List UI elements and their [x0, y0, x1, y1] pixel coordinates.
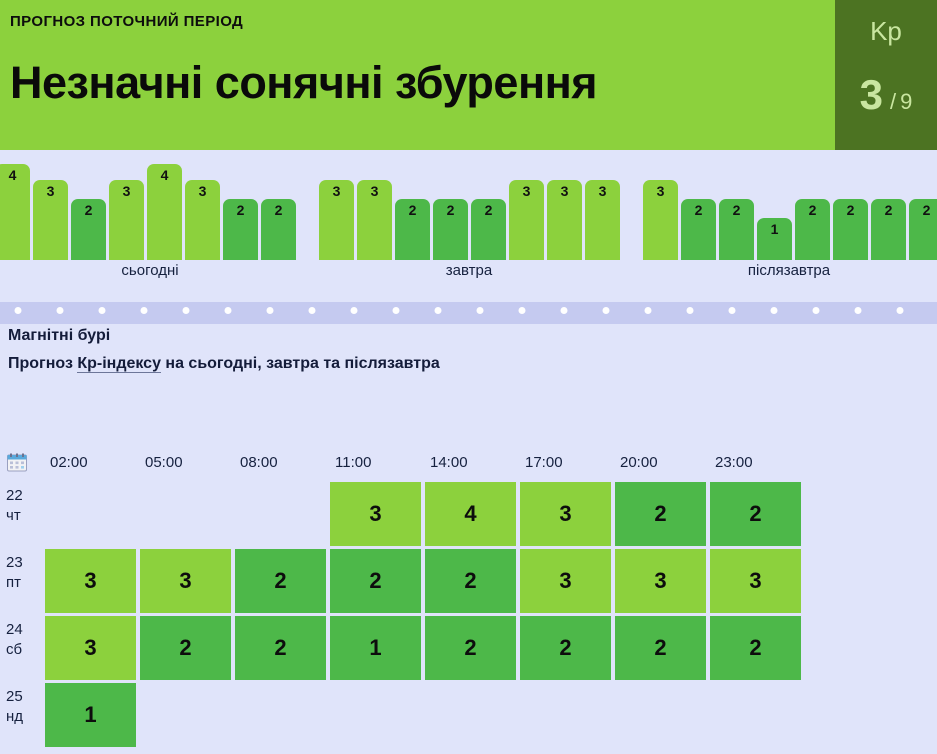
kp-bar-value: 1	[757, 221, 792, 237]
day-group-label-0: сьогодні	[121, 262, 178, 279]
table-row: 24сб32212222	[0, 616, 937, 683]
row-date-label: 23пт	[6, 553, 23, 594]
kp-bar: 3	[185, 180, 220, 260]
kp-bar-value: 4	[147, 167, 182, 183]
row-weekday: сб	[6, 640, 23, 660]
timeline-dot	[15, 307, 22, 314]
kp-bar: 3	[547, 180, 582, 260]
time-header-1700: 17:00	[525, 454, 563, 471]
kp-bar-value: 2	[395, 202, 430, 218]
kp-badge-value: 3	[860, 74, 883, 116]
kp-bar-strip: 432343223322233332212222 сьогоднізавтрап…	[0, 150, 937, 296]
table-row: 25нд1	[0, 683, 937, 750]
kp-cell: 2	[425, 616, 518, 682]
kp-cell: 2	[520, 616, 613, 682]
kp-bar-value: 2	[719, 202, 754, 218]
table-header-row: 02:0005:0008:0011:0014:0017:0020:0023:00	[0, 448, 937, 482]
table-body: 22чт3432223пт3322233324сб3221222225нд1	[0, 482, 937, 750]
timeline-dot	[57, 307, 64, 314]
kp-bar: 3	[33, 180, 68, 260]
timeline-dot	[309, 307, 316, 314]
kp-bar-value: 3	[547, 183, 582, 199]
table-row: 23пт33222333	[0, 549, 937, 616]
kp-cell-empty	[235, 482, 328, 548]
timeline-dot	[897, 307, 904, 314]
kp-bar-value: 2	[833, 202, 868, 218]
section-subtitle: Прогноз Кр-індексу на сьогодні, завтра т…	[8, 352, 937, 376]
kp-badge-max: 9	[900, 89, 912, 115]
row-day-number: 25	[6, 687, 23, 707]
timeline-dot	[477, 307, 484, 314]
kp-bar: 2	[871, 199, 906, 260]
kp-bar-value: 2	[909, 202, 937, 218]
kp-bar: 2	[833, 199, 868, 260]
kp-cell-empty	[140, 683, 233, 749]
row-weekday: нд	[6, 707, 23, 727]
kp-bar: 3	[643, 180, 678, 260]
table-row: 22чт34322	[0, 482, 937, 549]
timeline-dot	[813, 307, 820, 314]
kp-bar: 2	[909, 199, 937, 260]
time-header-1400: 14:00	[430, 454, 468, 471]
kp-badge-value-row: 3 / 9	[860, 74, 913, 116]
kp-cell: 1	[45, 683, 138, 749]
kp-cell: 3	[710, 549, 803, 615]
time-header-0200: 02:00	[50, 454, 88, 471]
kp-cell: 2	[615, 616, 708, 682]
header-text-block: ПРОГНОЗ ПОТОЧНИЙ ПЕРІОД Незначні сонячні…	[0, 0, 835, 150]
kp-bar-value: 3	[185, 183, 220, 199]
timeline-dot	[855, 307, 862, 314]
kp-bar-value: 4	[0, 167, 30, 183]
timeline-dot	[141, 307, 148, 314]
row-weekday: пт	[6, 573, 23, 593]
kp-cell: 3	[45, 616, 138, 682]
kp-cell: 2	[330, 549, 423, 615]
kp-bar: 3	[109, 180, 144, 260]
kp-bar-value: 2	[261, 202, 296, 218]
kp-bar-value: 3	[585, 183, 620, 199]
kp-badge-label: Kp	[870, 18, 902, 44]
kp-bar: 3	[509, 180, 544, 260]
timeline-dot	[435, 307, 442, 314]
time-header-2000: 20:00	[620, 454, 658, 471]
timeline-dot	[729, 307, 736, 314]
day-group-labels: сьогоднізавтрапіслязавтра	[0, 262, 937, 288]
kp-bar-value: 2	[871, 202, 906, 218]
kp-cell-empty	[140, 482, 233, 548]
timeline-dot	[393, 307, 400, 314]
kp-bar-value: 3	[509, 183, 544, 199]
kp-cell: 3	[45, 549, 138, 615]
kp-bar: 3	[319, 180, 354, 260]
kp-cell-empty	[45, 482, 138, 548]
timeline-dot	[183, 307, 190, 314]
kp-bar: 2	[681, 199, 716, 260]
row-date-label: 25нд	[6, 687, 23, 728]
row-day-number: 23	[6, 553, 23, 573]
row-date-label: 24сб	[6, 620, 23, 661]
timeline-dot	[351, 307, 358, 314]
kp-cell: 3	[520, 482, 613, 548]
kp-cell-empty	[425, 683, 518, 749]
timeline-dot	[225, 307, 232, 314]
kp-cell: 2	[425, 549, 518, 615]
kp-bar-value: 3	[643, 183, 678, 199]
row-date-label: 22чт	[6, 486, 23, 527]
kp-bar: 4	[147, 164, 182, 260]
kp-bar: 2	[719, 199, 754, 260]
timeline-dot	[267, 307, 274, 314]
kp-index-badge: Kp 3 / 9	[835, 0, 937, 150]
kp-cell: 3	[330, 482, 423, 548]
time-header-1100: 11:00	[335, 454, 371, 471]
timeline-dot	[99, 307, 106, 314]
timeline-dot	[519, 307, 526, 314]
kp-cell-empty	[330, 683, 423, 749]
kp-cell: 3	[140, 549, 233, 615]
kp-bar: 2	[433, 199, 468, 260]
kp-cell-empty	[235, 683, 328, 749]
timeline-dot-row	[0, 302, 937, 324]
forecast-header: ПРОГНОЗ ПОТОЧНИЙ ПЕРІОД Незначні сонячні…	[0, 0, 937, 150]
kp-cell: 2	[710, 616, 803, 682]
kp-forecast-table: 02:0005:0008:0011:0014:0017:0020:0023:00…	[0, 448, 937, 750]
kp-bar-value: 3	[109, 183, 144, 199]
row-weekday: чт	[6, 506, 23, 526]
kp-bar-value: 3	[33, 183, 68, 199]
kp-bar-value: 3	[319, 183, 354, 199]
kp-bar-value: 2	[471, 202, 506, 218]
timeline-dot	[561, 307, 568, 314]
kp-bar: 2	[71, 199, 106, 260]
kp-index-link[interactable]: Кр-індексу	[77, 355, 161, 373]
timeline-dot	[687, 307, 694, 314]
kp-bar-value: 2	[433, 202, 468, 218]
kp-cell: 2	[235, 616, 328, 682]
timeline-dot	[645, 307, 652, 314]
timeline-dot	[771, 307, 778, 314]
time-header-0800: 08:00	[240, 454, 278, 471]
kp-cell: 3	[615, 549, 708, 615]
subtitle-prefix: Прогноз	[8, 355, 77, 372]
kp-bar: 1	[757, 218, 792, 260]
kp-bar: 3	[357, 180, 392, 260]
kp-bar: 3	[585, 180, 620, 260]
kp-cell-empty	[710, 683, 803, 749]
time-header-2300: 23:00	[715, 454, 753, 471]
subtitle-suffix: на сьогодні, завтра та післязавтра	[161, 355, 440, 372]
kp-bar: 2	[261, 199, 296, 260]
kp-cell: 3	[520, 549, 613, 615]
kp-bar-value: 2	[223, 202, 258, 218]
kp-cell: 2	[235, 549, 328, 615]
kp-cell-empty	[615, 683, 708, 749]
kp-cell: 1	[330, 616, 423, 682]
kp-cell: 2	[615, 482, 708, 548]
page-title: Незначні сонячні збурення	[10, 59, 835, 106]
kp-cell-empty	[520, 683, 613, 749]
kp-bar: 4	[0, 164, 30, 260]
kp-cell: 2	[710, 482, 803, 548]
day-group-label-1: завтра	[446, 262, 492, 279]
kp-bar: 2	[471, 199, 506, 260]
kp-bar-value: 2	[681, 202, 716, 218]
kp-bar-value: 2	[795, 202, 830, 218]
kp-bar-chart: 432343223322233332212222	[0, 150, 937, 260]
row-day-number: 22	[6, 486, 23, 506]
calendar-icon	[6, 452, 28, 474]
kp-cell: 4	[425, 482, 518, 548]
kp-bar-value: 2	[71, 202, 106, 218]
kp-badge-separator: /	[890, 89, 896, 115]
day-group-label-2: післязавтра	[748, 262, 830, 279]
kp-cell: 2	[140, 616, 233, 682]
kp-bar: 2	[223, 199, 258, 260]
header-kicker: ПРОГНОЗ ПОТОЧНИЙ ПЕРІОД	[10, 14, 835, 31]
section-title: Магнітні бурі	[8, 324, 937, 348]
row-day-number: 24	[6, 620, 23, 640]
kp-bar: 2	[395, 199, 430, 260]
kp-bar-value: 3	[357, 183, 392, 199]
time-header-0500: 05:00	[145, 454, 183, 471]
timeline-dot	[603, 307, 610, 314]
kp-bar: 2	[795, 199, 830, 260]
